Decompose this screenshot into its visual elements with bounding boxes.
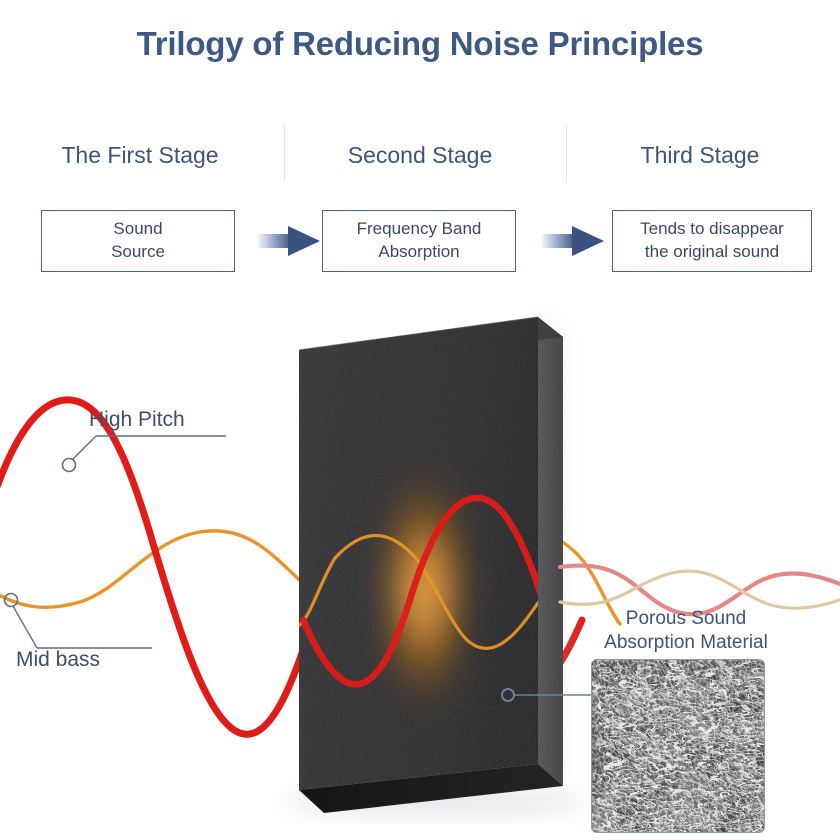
porous-fiber-material-photo [591,659,765,833]
stage-header-row: The First Stage Second Stage Third Stage [0,132,840,178]
process-flow: Sound Source Frequency Band A [0,210,840,272]
label-high-pitch: High Pitch [89,408,185,432]
porous-label-line-2: Absorption Material [604,632,768,653]
flow-box-frequency-band-absorption: Frequency Band Absorption [322,210,516,272]
flow-box-text: Frequency Band Absorption [357,218,482,264]
label-porous-sound-absorption-material: Porous Sound Absorption Material [588,607,784,655]
stage-divider-1 [284,124,285,182]
high-pitch-leader [63,436,227,472]
flow-box-line-1: Sound [113,219,162,238]
arrow-right-icon [540,225,606,257]
stage-header-3: Third Stage [560,132,840,178]
stage-divider-2 [566,124,567,182]
label-mid-bass: Mid bass [16,648,100,672]
stage-header-1: The First Stage [0,132,280,178]
page-title: Trilogy of Reducing Noise Principles [0,22,840,66]
flow-box-text: Sound Source [111,218,165,264]
stage-header-2: Second Stage [280,132,560,178]
flow-box-line-1: Tends to disappear [640,219,784,238]
flow-box-sound-source: Sound Source [41,210,235,272]
porous-label-line-1: Porous Sound [626,608,746,629]
flow-box-line-1: Frequency Band [357,219,482,238]
flow-box-line-2: Source [111,242,165,261]
flow-box-tends-to-disappear: Tends to disappear the original sound [612,210,812,272]
infographic-root: Trilogy of Reducing Noise Principles The… [0,0,840,840]
flow-box-line-2: Absorption [378,242,459,261]
flow-box-line-2: the original sound [645,242,779,261]
flow-box-text: Tends to disappear the original sound [640,218,784,264]
arrow-right-icon [256,225,322,257]
